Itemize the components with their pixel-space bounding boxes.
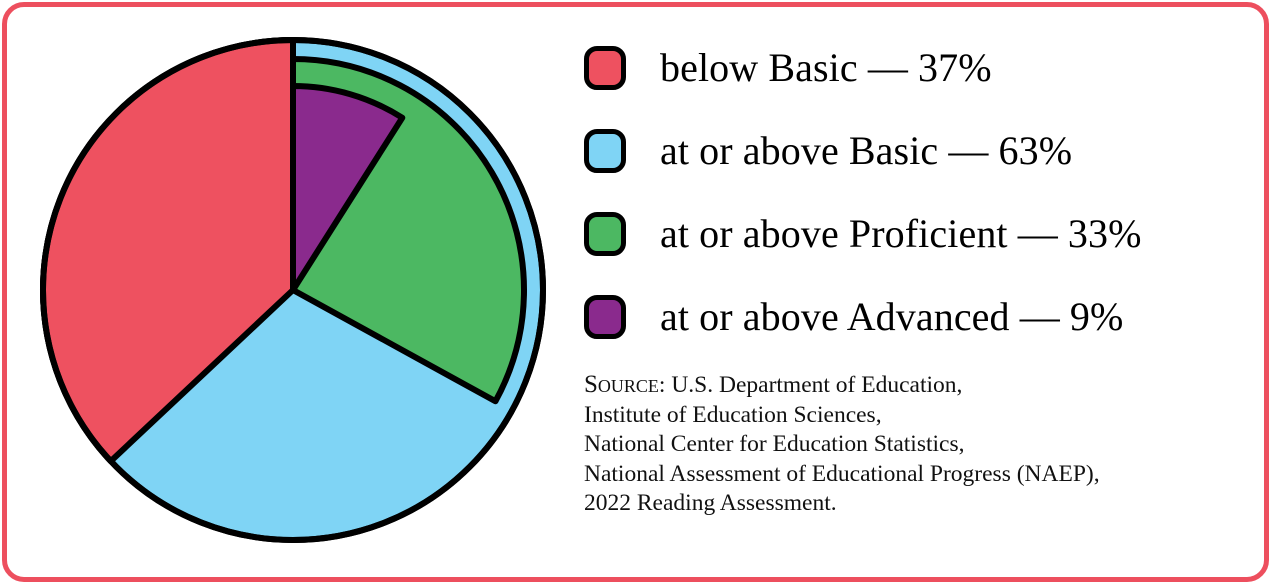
- source-label: Source: [584, 371, 659, 398]
- legend-item-below-basic[interactable]: below Basic — 37%: [578, 26, 1250, 109]
- legend-label-at-or-above-advanced: at or above Advanced — 9%: [660, 297, 1123, 337]
- pie-chart-svg: [20, 18, 568, 566]
- source-note: Source: U.S. Department of Education, In…: [584, 370, 1250, 519]
- legend-item-at-or-above-advanced[interactable]: at or above Advanced — 9%: [578, 275, 1250, 358]
- pie-chart-figure: below Basic — 37% at or above Basic — 63…: [0, 0, 1271, 584]
- legend-swatch-at-or-above-basic: [584, 129, 626, 173]
- legend-label-below-basic: below Basic — 37%: [660, 48, 992, 88]
- legend-label-at-or-above-basic: at or above Basic — 63%: [660, 131, 1072, 171]
- source-line-5: 2022 Reading Assessment.: [584, 489, 1250, 519]
- source-line-2: Institute of Education Sciences,: [584, 401, 1250, 431]
- source-line-1-rest: : U.S. Department of Education,: [659, 372, 962, 398]
- source-line-4: National Assessment of Educational Progr…: [584, 460, 1250, 490]
- legend-swatch-proficient: [584, 212, 626, 256]
- legend-swatch-below-basic: [584, 46, 626, 90]
- source-line-3: National Center for Education Statistics…: [584, 430, 1250, 460]
- legend-swatch-advanced: [584, 295, 626, 339]
- source-line-1: Source: U.S. Department of Education,: [584, 370, 1250, 401]
- legend-label-at-or-above-proficient: at or above Proficient — 33%: [660, 214, 1142, 254]
- legend-item-at-or-above-proficient[interactable]: at or above Proficient — 33%: [578, 192, 1250, 275]
- pie-chart: [20, 18, 568, 566]
- chart-legend: below Basic — 37% at or above Basic — 63…: [578, 26, 1250, 358]
- legend-item-at-or-above-basic[interactable]: at or above Basic — 63%: [578, 109, 1250, 192]
- legend-and-source-column: below Basic — 37% at or above Basic — 63…: [578, 26, 1250, 556]
